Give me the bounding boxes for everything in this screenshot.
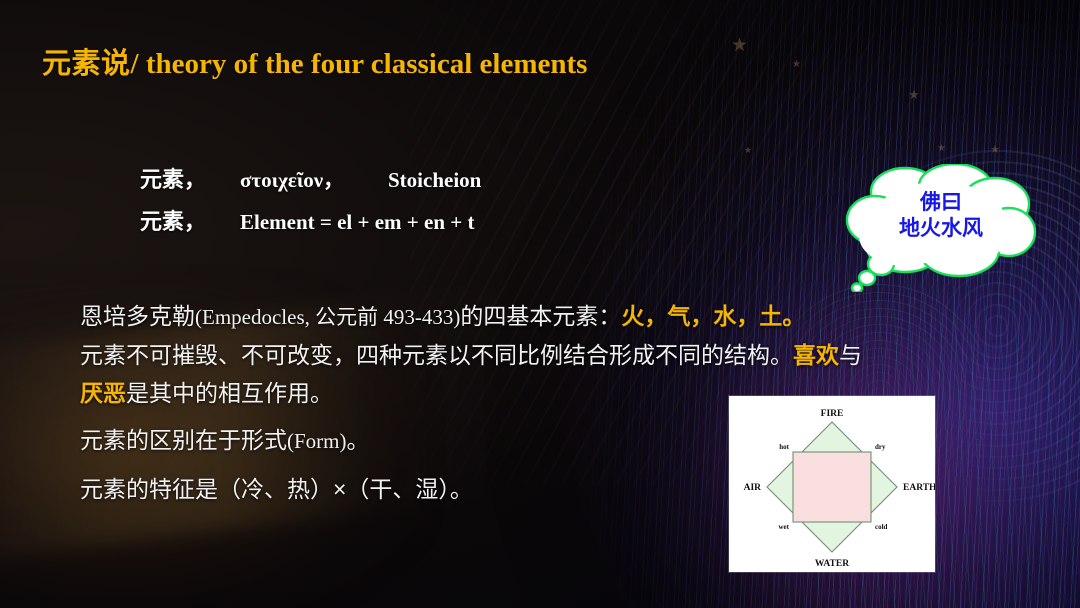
body-paragraph-1: 恩培多克勒(Empedocles, 公元前 493-433)的四基本元素：火，气… [80,300,1020,333]
thought-bubble: 佛曰 地火水风 [843,164,1039,292]
star-decoration-icon: ★ [792,60,801,70]
definition-label: 元素， [140,162,240,194]
body-p4-part-a: 元素的区别在于形式 [80,427,287,453]
definition-row: 元素， Element = el + em + en + t [140,204,481,246]
definition-term-transliteration: Stoicheion [388,168,481,193]
body-p4-part-c: 。 [347,427,370,453]
body-p1-part-b: (Empedocles, 公元前 493-433) [195,305,460,329]
diagram-label-cold: cold [875,523,888,531]
star-decoration-icon: ★ [731,36,748,55]
presentation-slide: ★ ★ ★ ★ ★ ★ 元素说/ theory of the four clas… [0,0,1080,608]
body-p4-part-b: (Form) [287,429,347,453]
diagram-label-water: WATER [815,559,849,569]
body-p2-highlight: 喜欢 [793,342,839,368]
definition-term-greek: στοιχεῖον， [240,164,388,194]
definition-term-etymology: Element = el + em + en + t [240,210,474,235]
diagram-label-fire: FIRE [821,409,844,419]
slide-title: 元素说/ theory of the four classical elemen… [42,46,587,82]
definition-block: 元素， στοιχεῖον， Stoicheion 元素， Element = … [140,162,481,246]
elements-diagram-figure: FIRE EARTH WATER AIR hot dry wet cold [729,396,935,572]
definition-row: 元素， στοιχεῖον， Stoicheion [140,162,481,204]
slide-title-cjk: 元素说 [42,48,131,80]
body-p3-part-a: 是其中的相互作用。 [126,380,333,406]
star-decoration-icon: ★ [744,146,752,155]
diagram-label-wet: wet [779,523,790,531]
star-decoration-icon: ★ [908,88,920,101]
star-decoration-icon: ★ [990,145,1000,156]
body-p1-highlight: 火，气，水，土 [621,303,782,329]
body-p2-part-b: 与 [839,342,862,368]
slide-title-latin: / theory of the four classical elements [131,48,588,80]
diagram-label-earth: EARTH [903,483,935,493]
star-decoration-icon: ★ [937,144,946,154]
body-p1-part-a: 恩培多克勒 [80,303,195,329]
definition-label: 元素， [140,204,240,236]
thought-bubble-shape-icon [843,164,1039,292]
body-p1-end: 。 [782,303,805,329]
classical-elements-diagram: FIRE EARTH WATER AIR hot dry wet cold [729,396,935,572]
diagram-label-dry: dry [875,443,886,451]
elements-inner-square [793,452,871,522]
diagram-label-air: AIR [744,483,762,493]
diagram-label-hot: hot [779,443,789,451]
body-paragraph-2: 元素不可摧毁、不可改变，四种元素以不同比例结合形成不同的结构。喜欢与 [80,339,1020,372]
body-p3-highlight: 厌恶 [80,380,126,406]
body-p1-part-c: 的四基本元素： [460,303,621,329]
body-p2-part-a: 元素不可摧毁、不可改变，四种元素以不同比例结合形成不同的结构。 [80,342,793,368]
